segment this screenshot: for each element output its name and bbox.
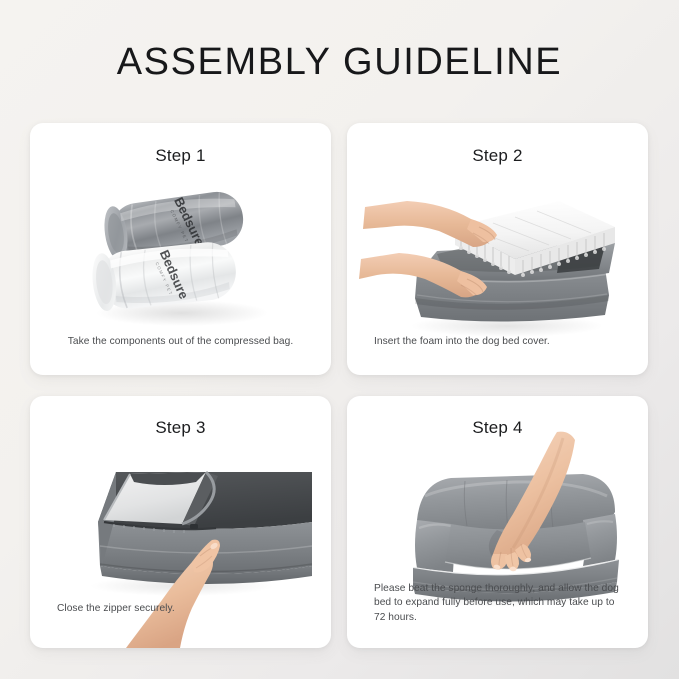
step-card-4: Step 4	[347, 396, 648, 648]
step-2-title: Step 2	[347, 145, 648, 167]
step-1-brand-subtext-2: COMFY PET	[155, 261, 174, 296]
step-1-caption: Take the components out of the compresse…	[30, 335, 331, 350]
page-title: ASSEMBLY GUIDELINE	[0, 38, 679, 86]
step-2-caption: Insert the foam into the dog bed cover.	[374, 335, 626, 350]
step-3-title: Step 3	[30, 417, 331, 439]
assembly-guideline-page: ASSEMBLY GUIDELINE Step 1	[0, 0, 679, 679]
step-card-3: Step 3	[30, 396, 331, 648]
step-1-brand-subtext: COMFY PET	[169, 209, 189, 244]
step-1-brand-text-2: Bedsure	[157, 248, 192, 302]
step-1-brand-text: Bedsure	[171, 195, 207, 248]
step-card-2: Step 2	[347, 123, 648, 375]
step-4-caption: Please beat the sponge thoroughly, and a…	[374, 582, 626, 626]
step-card-1: Step 1	[30, 123, 331, 375]
step-4-title: Step 4	[347, 417, 648, 439]
step-1-title: Step 1	[30, 145, 331, 167]
step-3-caption: Close the zipper securely.	[57, 602, 175, 617]
steps-grid: Step 1	[30, 123, 648, 648]
